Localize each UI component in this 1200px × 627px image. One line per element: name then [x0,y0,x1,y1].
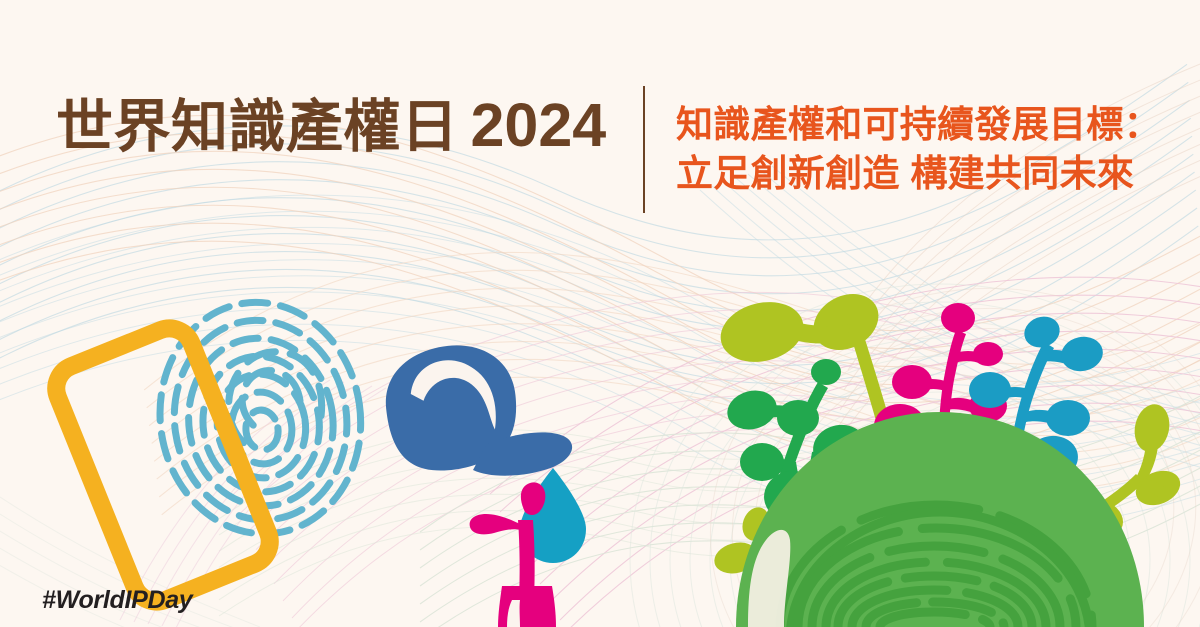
world-ip-day-banner: 世界知識產權日2024 知識產權和可持續發展目標： 立足創新創造 構建共同未來 … [0,0,1200,627]
page-title: 世界知識產權日2024 [56,92,606,160]
subtitle-line-1: 知識產權和可持續發展目標： [676,104,1161,145]
banner-subtitle: 知識產權和可持續發展目標： 立足創新創造 構建共同未來 [676,100,1176,198]
subtitle-line-2: 立足創新創造 構建共同未來 [676,149,1176,198]
title-chinese: 世界知識產權日 [56,95,459,159]
title-divider [643,86,645,213]
banner-header: 世界知識產權日2024 知識產權和可持續發展目標： 立足創新創造 構建共同未來 [0,0,1200,240]
title-year: 2024 [471,91,607,159]
hashtag-worldipday: #WorldIPDay [42,586,192,615]
